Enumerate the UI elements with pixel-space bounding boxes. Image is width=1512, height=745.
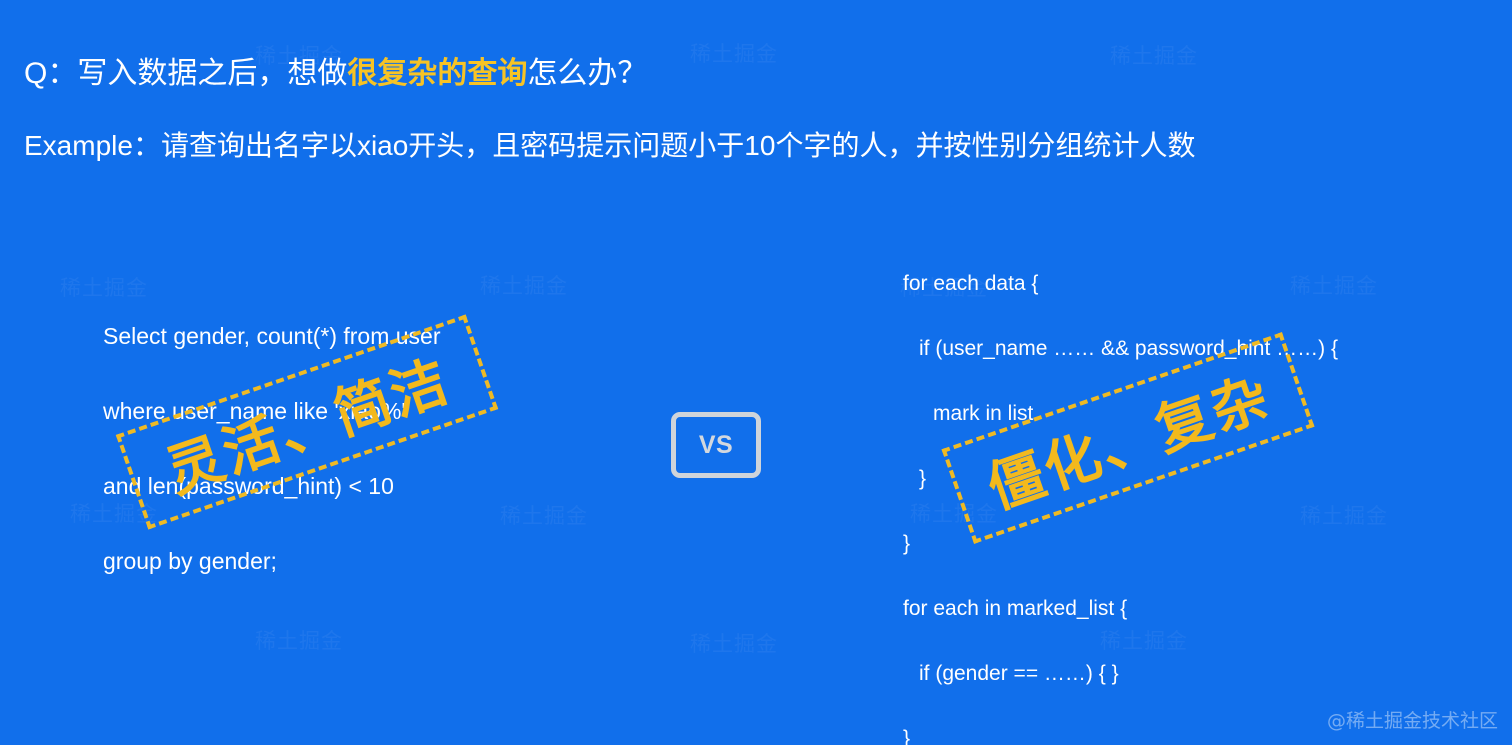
pseudocode-line: for each data { <box>903 270 1423 298</box>
watermark-tile: 稀土掘金 <box>480 270 568 300</box>
vs-badge-label: VS <box>699 433 733 458</box>
pseudocode-line: if (gender == ……) { } <box>903 660 1423 688</box>
corner-watermark: @稀土掘金技术社区 <box>1327 706 1498 733</box>
question-line: Q：写入数据之后，想做很复杂的查询怎么办？ <box>24 52 1195 96</box>
question-suffix: 怎么办？ <box>527 57 647 90</box>
watermark-tile: 稀土掘金 <box>60 272 148 302</box>
slide-canvas: 稀土掘金 稀土掘金 稀土掘金 稀土掘金 稀土掘金 稀土掘金 稀土掘金 稀土掘金 … <box>0 0 1512 745</box>
question-highlight: 很复杂的查询 <box>347 57 527 90</box>
watermark-tile: 稀土掘金 <box>255 625 343 655</box>
pseudocode-line: for each in marked_list { <box>903 595 1423 623</box>
sql-code-line: group by gender; <box>103 547 663 575</box>
question-prefix: Q：写入数据之后，想做 <box>24 57 347 90</box>
example-line: Example：请查询出名字以xiao开头，且密码提示问题小于10个字的人，并按… <box>24 124 1195 168</box>
heading-block: Q：写入数据之后，想做很复杂的查询怎么办？ Example：请查询出名字以xia… <box>24 52 1195 168</box>
pseudocode-line: if (user_name …… && password_hint ……) { <box>903 335 1423 363</box>
watermark-tile: 稀土掘金 <box>690 628 778 658</box>
vs-badge: VS <box>671 412 761 478</box>
